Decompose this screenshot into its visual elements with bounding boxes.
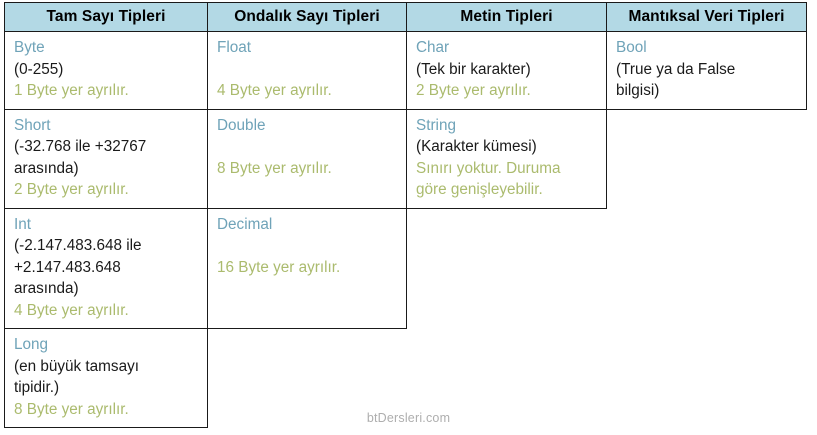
type-description: (en büyük tamsayı tipidir.) — [14, 356, 199, 399]
type-description: (True ya da False bilgisi) — [616, 59, 798, 102]
cell-byte: Byte (0-255) 1 Byte yer ayrılır. — [5, 32, 208, 110]
cell-int: Int (-2.147.483.648 ile +2.147.483.648 a… — [5, 208, 208, 329]
type-name: String — [416, 115, 598, 137]
type-description: (0-255) — [14, 59, 199, 81]
cell-empty — [407, 208, 607, 329]
type-name: Int — [14, 214, 199, 236]
type-name: Decimal — [217, 214, 398, 236]
type-size: 4 Byte yer ayrılır. — [217, 80, 398, 102]
spacer — [217, 235, 398, 257]
cell-string: String (Karakter kümesi) Sınırı yoktur. … — [407, 109, 607, 208]
cell-float: Float 4 Byte yer ayrılır. — [208, 32, 407, 110]
type-name: Long — [14, 334, 199, 356]
cell-short: Short (-32.768 ile +32767 arasında) 2 By… — [5, 109, 208, 208]
table-header-row: Tam Sayı Tipleri Ondalık Sayı Tipleri Me… — [5, 3, 807, 32]
column-header-decimal-types: Ondalık Sayı Tipleri — [208, 3, 407, 32]
type-size: 2 Byte yer ayrılır. — [416, 80, 598, 102]
type-description: (-32.768 ile +32767 arasında) — [14, 136, 199, 179]
watermark-label: btDersleri.com — [0, 411, 817, 425]
cell-decimal: Decimal 16 Byte yer ayrılır. — [208, 208, 407, 329]
column-header-integer-types: Tam Sayı Tipleri — [5, 3, 208, 32]
type-name: Short — [14, 115, 199, 137]
data-types-table: Tam Sayı Tipleri Ondalık Sayı Tipleri Me… — [4, 2, 807, 428]
type-size: 4 Byte yer ayrılır. — [14, 300, 199, 322]
type-description: (-2.147.483.648 ile +2.147.483.648 arası… — [14, 235, 199, 300]
cell-char: Char (Tek bir karakter) 2 Byte yer ayrıl… — [407, 32, 607, 110]
type-name: Float — [217, 37, 398, 59]
cell-double: Double 8 Byte yer ayrılır. — [208, 109, 407, 208]
table-row: Int (-2.147.483.648 ile +2.147.483.648 a… — [5, 208, 807, 329]
cell-empty — [607, 208, 807, 329]
type-description: (Karakter kümesi) — [416, 136, 598, 158]
type-name: Byte — [14, 37, 199, 59]
table-row: Byte (0-255) 1 Byte yer ayrılır. Float 4… — [5, 32, 807, 110]
data-types-table-container: Tam Sayı Tipleri Ondalık Sayı Tipleri Me… — [4, 2, 806, 428]
type-description: (Tek bir karakter) — [416, 59, 598, 81]
type-size: 16 Byte yer ayrılır. — [217, 257, 398, 279]
cell-empty — [607, 109, 807, 208]
column-header-text-types: Metin Tipleri — [407, 3, 607, 32]
type-size: 8 Byte yer ayrılır. — [217, 158, 398, 180]
table-row: Short (-32.768 ile +32767 arasında) 2 By… — [5, 109, 807, 208]
column-header-logical-types: Mantıksal Veri Tipleri — [607, 3, 807, 32]
type-size: Sınırı yoktur. Duruma göre genişleyebili… — [416, 158, 598, 201]
cell-bool: Bool (True ya da False bilgisi) — [607, 32, 807, 110]
spacer — [217, 59, 398, 81]
type-size: 2 Byte yer ayrılır. — [14, 179, 199, 201]
type-name: Char — [416, 37, 598, 59]
type-name: Bool — [616, 37, 798, 59]
type-size: 1 Byte yer ayrılır. — [14, 80, 199, 102]
spacer — [217, 136, 398, 158]
type-name: Double — [217, 115, 398, 137]
